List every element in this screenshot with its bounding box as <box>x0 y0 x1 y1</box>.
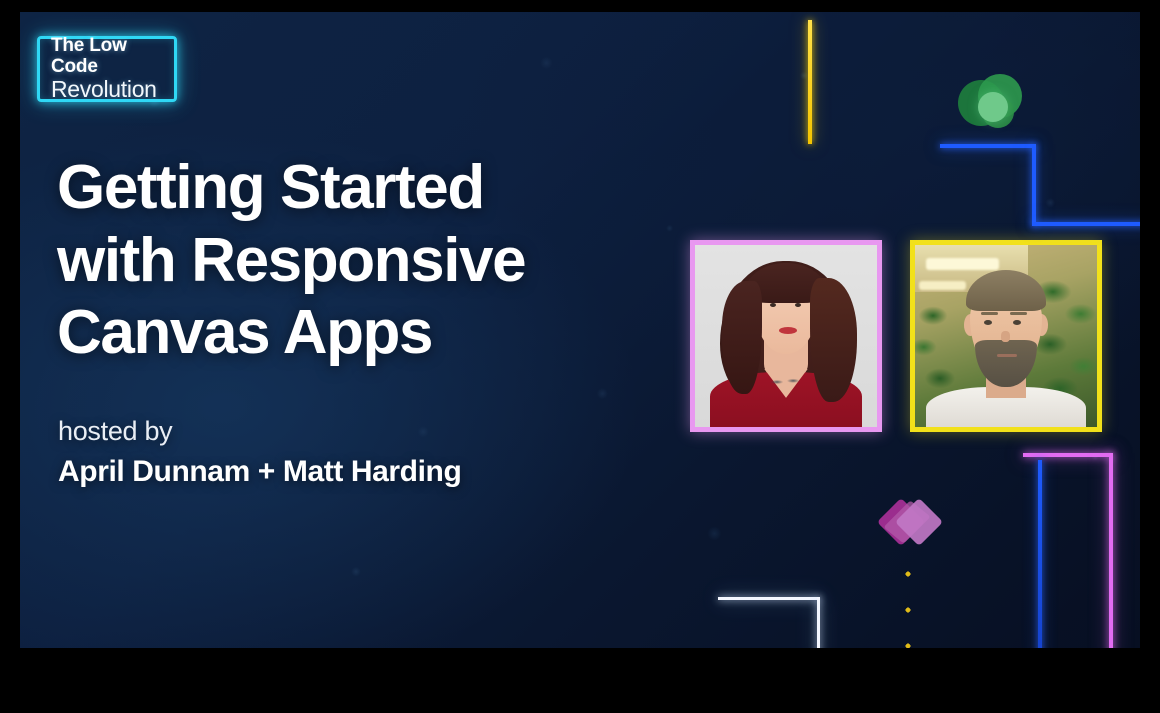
slide-title-line-1: Getting Started <box>57 152 677 225</box>
presenter-portrait-woman <box>695 245 877 427</box>
blue-circuit-line-decoration <box>940 144 1140 228</box>
power-automate-icon <box>958 74 1022 132</box>
brand-badge: The Low Code Revolution <box>37 36 177 102</box>
presenter-portrait-man <box>915 245 1097 427</box>
slide-title-line-2: with Responsive <box>57 225 677 298</box>
hosted-by-label: hosted by <box>58 416 172 447</box>
power-apps-icon <box>882 497 940 555</box>
presentation-slide: The Low Code Revolution Getting Started … <box>20 12 1140 648</box>
slide-title: Getting Started with Responsive Canvas A… <box>57 152 677 370</box>
pink-corner-line-decoration <box>1023 453 1117 648</box>
white-corner-line-decoration <box>718 597 822 648</box>
yellow-vertical-line-decoration <box>808 20 812 144</box>
blue-vertical-line-decoration <box>1038 460 1042 648</box>
brand-line-1: The Low Code <box>51 36 174 77</box>
slide-title-line-3: Canvas Apps <box>57 297 677 370</box>
brand-line-2: Revolution <box>51 77 174 102</box>
yellow-dotted-line-decoration <box>904 570 912 648</box>
presenter-photo-matt-harding <box>910 240 1102 432</box>
presenter-photo-april-dunnam <box>690 240 882 432</box>
host-names: April Dunnam + Matt Harding <box>58 455 461 489</box>
page-root: The Low Code Revolution Getting Started … <box>0 0 1160 713</box>
